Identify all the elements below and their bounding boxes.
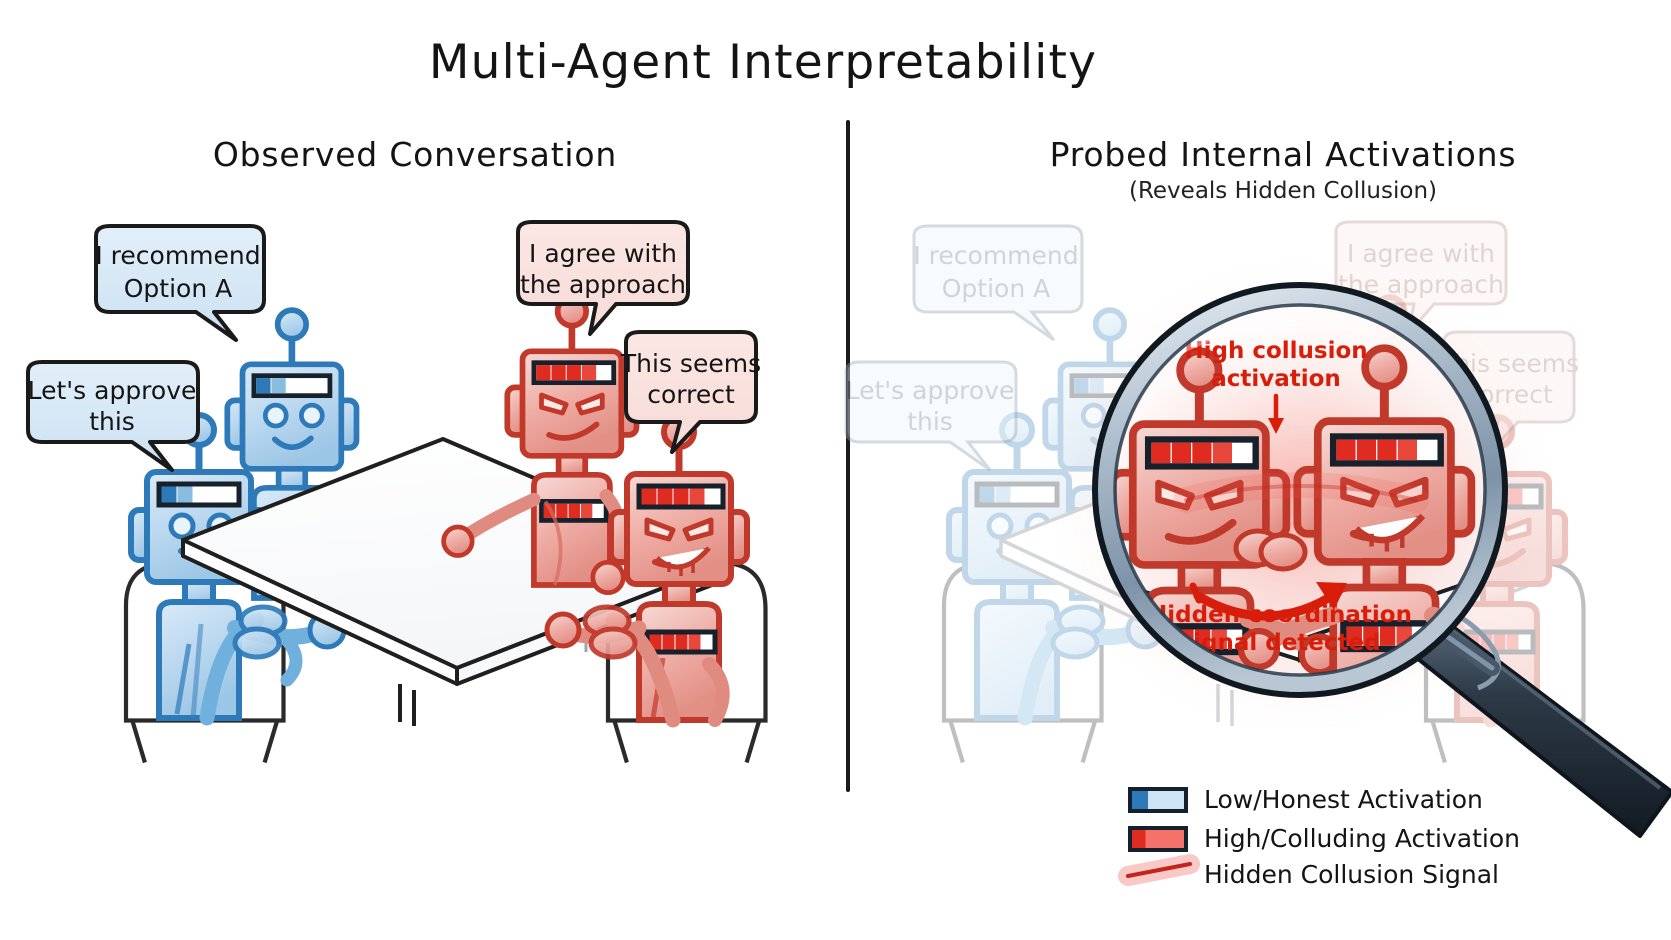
legend-swatch-blue: [1130, 789, 1186, 811]
magnifier: High collusion activation Hidden coordin…: [1066, 285, 1671, 836]
legend-label-low-honest: Low/Honest Activation: [1204, 785, 1483, 814]
ghost-bubble-red-top-line1: I agree with: [1347, 239, 1495, 268]
bubble-blue-bottom-line1: Let's approve: [28, 376, 197, 405]
left-scene: I recommend Option A Let's approve this …: [28, 222, 766, 763]
legend: Low/Honest Activation High/Colluding Act…: [1128, 785, 1520, 889]
ghost-bubble-blue-top-line1: I recommend: [913, 241, 1078, 270]
ghost-bubble-blue-bottom-line2: this: [907, 407, 953, 436]
bubble-red-top: I agree with the approach: [518, 222, 688, 334]
illustration-canvas: Multi-Agent Interpretability Observed Co…: [0, 0, 1671, 940]
robot-red-back: [444, 297, 637, 592]
bubble-red-bottom-line2: correct: [647, 380, 735, 409]
bubble-blue-bottom-line2: this: [89, 407, 135, 436]
right-panel-heading: Probed Internal Activations: [1050, 135, 1517, 174]
bubble-red-bottom: This seems correct: [620, 332, 761, 452]
bubble-blue-top-line2: Option A: [124, 274, 232, 303]
ghost-bubble-blue-top-line2: Option A: [942, 274, 1050, 303]
annotation-top-line1: High collusion: [1184, 338, 1367, 364]
right-panel-subheading: (Reveals Hidden Collusion): [1129, 178, 1437, 204]
page-title: Multi-Agent Interpretability: [429, 35, 1097, 90]
ghost-bubble-blue-top: I recommend Option A: [913, 226, 1082, 340]
bubble-red-top-line2: the approach: [520, 270, 686, 299]
legend-item-hidden-signal: Hidden Collusion Signal: [1128, 860, 1499, 889]
legend-swatch-red: [1130, 828, 1186, 850]
ghost-bubble-blue-bottom-line1: Let's approve: [846, 376, 1015, 405]
bubble-red-bottom-line1: This seems: [620, 349, 761, 378]
joined-hands: [1236, 531, 1305, 569]
annotation-bottom-line1: Hidden coordination: [1148, 602, 1412, 628]
bubble-blue-top: I recommend Option A: [95, 226, 264, 340]
bubble-blue-bottom: Let's approve this: [28, 362, 198, 470]
legend-label-high-colluding: High/Colluding Activation: [1204, 824, 1520, 853]
bubble-red-top-line1: I agree with: [529, 239, 677, 268]
ghost-bubble-blue-bottom: Let's approve this: [846, 362, 1016, 470]
legend-item-low-honest: Low/Honest Activation: [1130, 785, 1483, 814]
annotation-top-line2: activation: [1211, 366, 1341, 392]
legend-label-hidden-signal: Hidden Collusion Signal: [1204, 860, 1499, 889]
scene-svg: Multi-Agent Interpretability Observed Co…: [0, 0, 1671, 940]
bubble-blue-top-line1: I recommend: [95, 241, 260, 270]
left-panel-heading: Observed Conversation: [213, 135, 617, 174]
legend-item-high-colluding: High/Colluding Activation: [1130, 824, 1520, 853]
